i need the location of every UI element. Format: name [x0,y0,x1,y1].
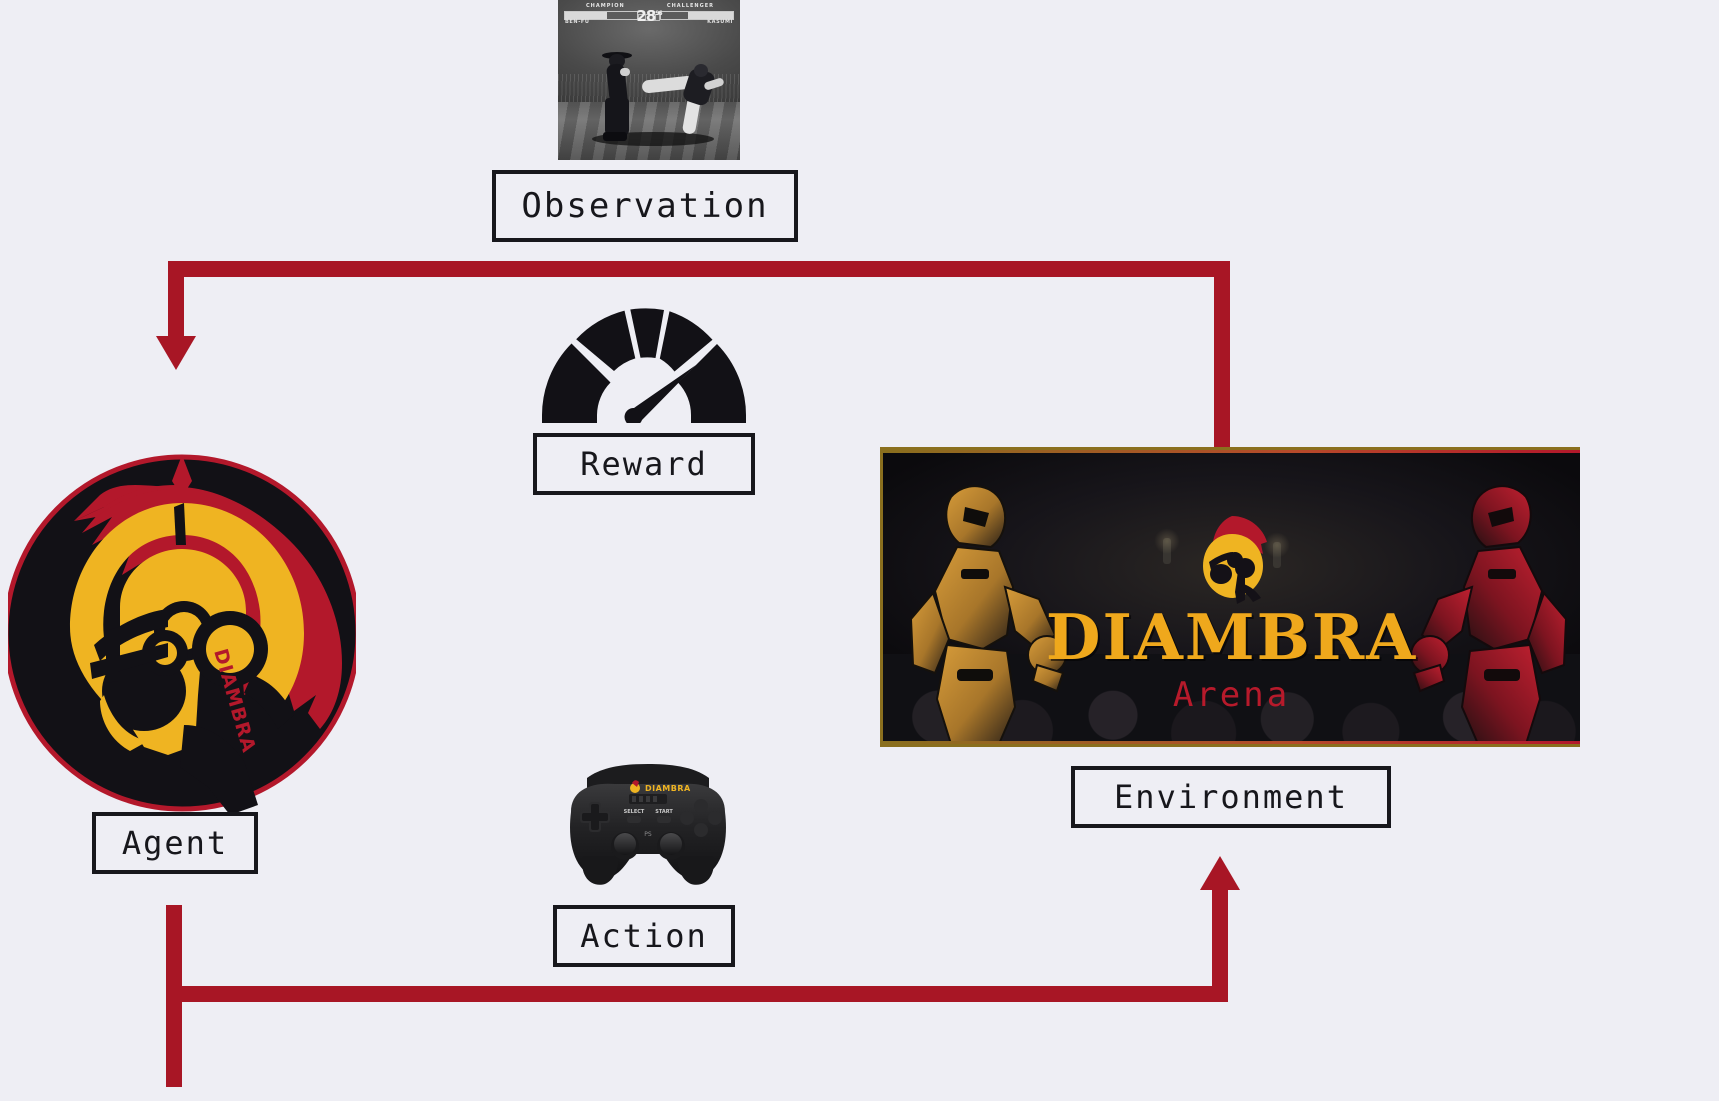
arrowhead-into-environment [1200,856,1240,890]
label-action: Action [553,905,735,967]
label-observation-text: Observation [521,186,768,226]
gamepad-select-label: SELECT [624,809,645,815]
hud-role-right: CHALLENGER [667,3,714,9]
diagram-canvas: CHAMPION CHALLENGER BEN-FU KASUMI 2896 O… [0,0,1719,1101]
banner-bottom-accent [883,741,1580,744]
label-reward-text: Reward [580,445,708,483]
label-observation: Observation [492,170,798,242]
game-hud: CHAMPION CHALLENGER BEN-FU KASUMI 2896 [558,3,740,27]
reward-gauge-icon [538,305,750,423]
connector-action-right-riser [1212,888,1228,1002]
connector-observation-right-riser [1214,261,1230,451]
hud-timer-decimals: 96 [655,10,661,17]
connector-action-horizontal [166,986,1228,1002]
action-gamepad-icon: SELECT START DIAMBRA PS [553,760,743,888]
environment-center-logo: DIAMBRA Arena [883,508,1580,715]
label-action-text: Action [580,917,708,955]
connector-observation-left-drop [168,261,184,343]
label-agent-text: Agent [122,824,228,862]
gamepad-brand-label: DIAMBRA [645,784,691,793]
hud-timer: 2896 [636,7,661,25]
gamepad-start-label: START [655,809,673,815]
agent-diambra-logo: DIAMBRA [8,395,356,815]
arrowhead-into-agent [156,336,196,370]
label-agent: Agent [92,812,258,874]
environment-title: DIAMBRA [1046,606,1417,669]
label-environment-text: Environment [1114,778,1348,816]
hud-role-left: CHAMPION [586,3,625,9]
banner-top-accent [883,450,1580,453]
label-environment: Environment [1071,766,1391,828]
fighter-champion [600,52,634,138]
hud-name-left: BEN-FU [565,19,590,25]
environment-banner: DIAMBRA Arena [880,447,1580,747]
gamepad-home-label: PS [644,831,652,838]
hud-timer-value: 28 [636,7,655,25]
label-reward: Reward [533,433,755,495]
fighter-challenger [642,64,712,134]
connector-observation-horizontal [168,261,1230,277]
observation-game-frame: CHAMPION CHALLENGER BEN-FU KASUMI 2896 [558,0,740,160]
hud-name-right: KASUMI [707,19,733,25]
environment-helmet-icon [1183,508,1281,606]
environment-subtitle: Arena [1173,675,1290,715]
